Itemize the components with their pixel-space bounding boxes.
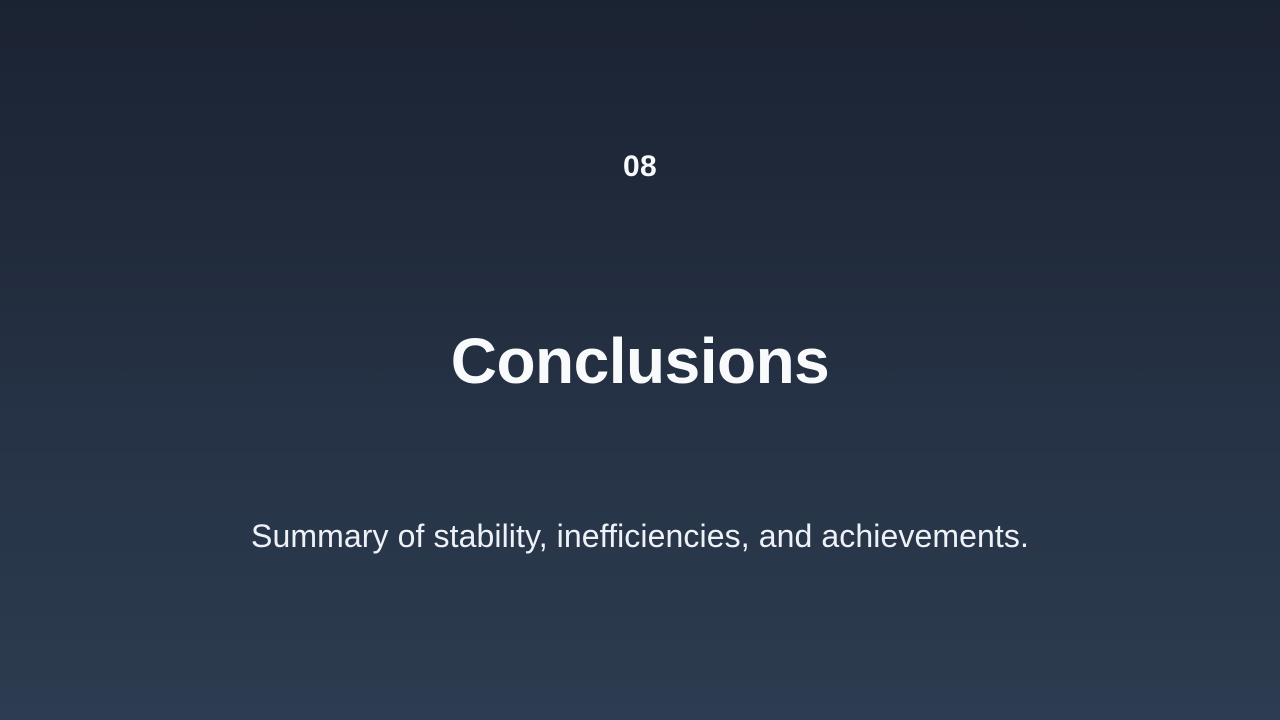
section-number: 08 [0, 152, 1280, 182]
page-title: Conclusions [0, 327, 1280, 396]
section-divider-slide: 08 Conclusions Summary of stability, ine… [0, 0, 1280, 720]
section-subtitle: Summary of stability, inefficiencies, an… [0, 516, 1280, 556]
